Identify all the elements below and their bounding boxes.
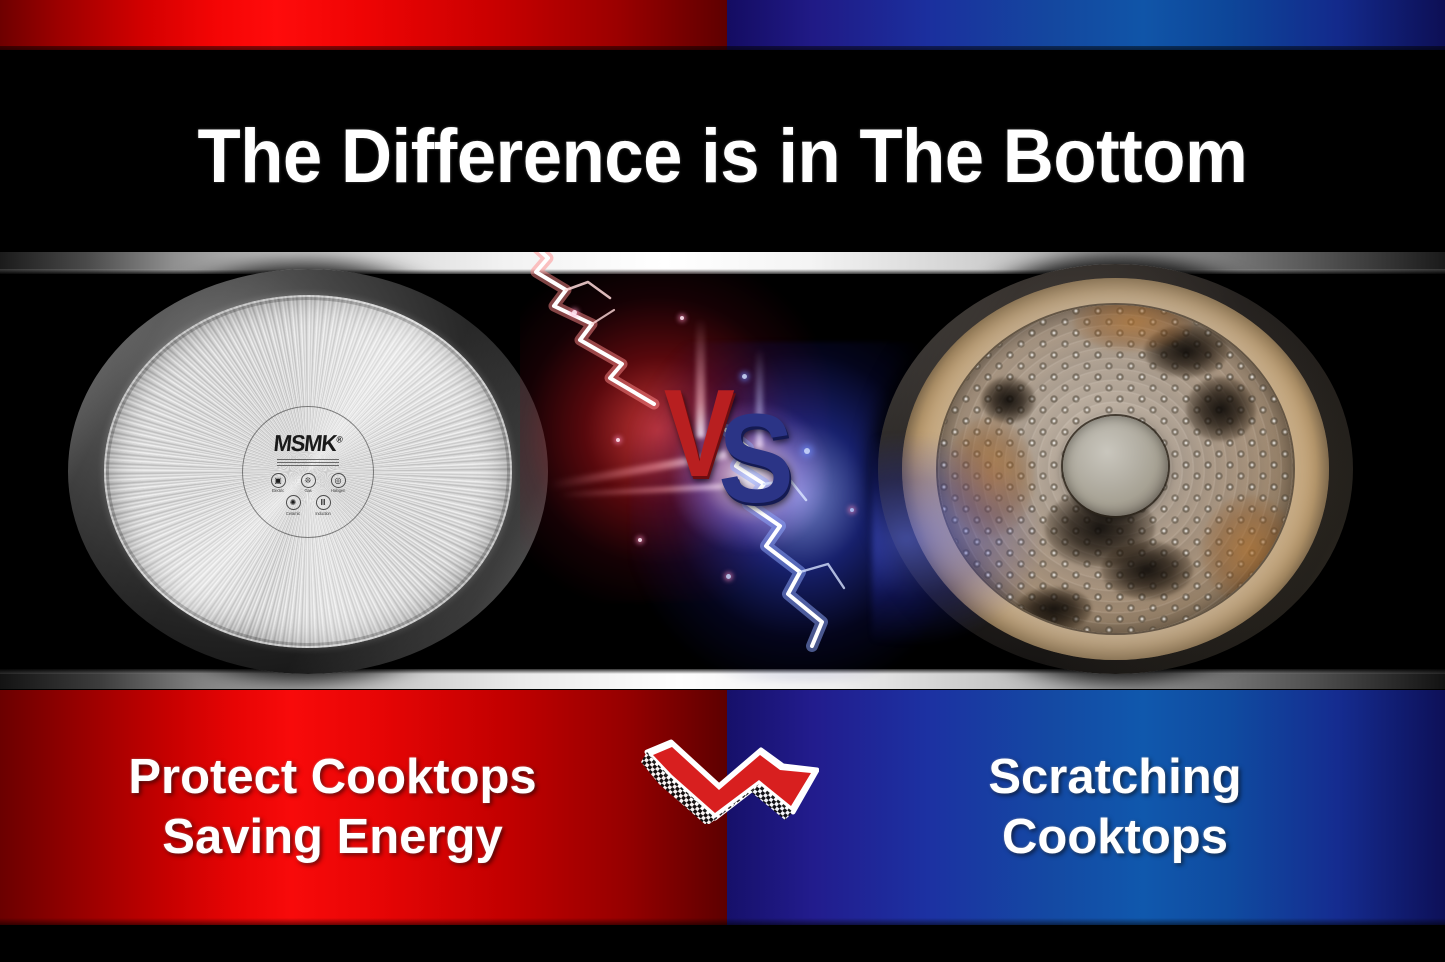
right-pan-center-disc: [1063, 416, 1168, 516]
electric-cooktop-label: Electric: [265, 488, 291, 493]
top-band-blue: [727, 0, 1445, 50]
cooktop-compatibility-icons: ▣ Electric ❊ Gas ◎ Halogen ✺: [260, 473, 356, 516]
electric-cooktop-glyph: ▣: [271, 473, 286, 488]
spark-particle: [680, 316, 684, 320]
top-band-red: [0, 0, 727, 50]
left-claim-line-2: Saving Energy: [162, 808, 502, 868]
gas-cooktop-label: Gas: [295, 488, 321, 493]
msmk-medallion: MSMK® ▣ Electric ❊ Gas: [242, 406, 374, 538]
ceramic-cooktop-icon: ✺ Ceramic: [280, 495, 306, 516]
spark-particle: [616, 438, 620, 442]
versus-s-letter: S: [718, 396, 794, 522]
right-claim-text: Scratching Cooktops: [727, 690, 1445, 925]
halogen-cooktop-label: Halogen: [325, 488, 351, 493]
induction-cooktop-icon: Ⅲ Induction: [310, 495, 336, 516]
ceramic-cooktop-glyph: ✺: [286, 495, 301, 510]
comparison-photo-strip: MSMK® ▣ Electric ❊ Gas: [0, 252, 1445, 689]
spark-particle: [850, 508, 854, 512]
ceramic-cooktop-label: Ceramic: [280, 511, 306, 516]
left-claim-text: Protect Cooktops Saving Energy: [0, 690, 727, 925]
halogen-cooktop-icon: ◎ Halogen: [325, 473, 351, 494]
claims-panel-left: Protect Cooktops Saving Energy: [0, 690, 727, 925]
right-pan-image: [878, 264, 1353, 674]
spark-particle: [638, 538, 642, 542]
induction-cooktop-glyph: Ⅲ: [316, 495, 331, 510]
induction-cooktop-label: Induction: [310, 511, 336, 516]
right-claim-line-2: Cooktops: [1002, 808, 1228, 868]
bottom-black-margin: [0, 925, 1445, 962]
versus-letters: V S: [642, 370, 832, 520]
msmk-brand-text: MSMK: [272, 430, 337, 456]
msmk-brand-logo: MSMK®: [272, 430, 343, 457]
product-comparison-poster: The Difference is in The Bottom MSMK®: [0, 0, 1445, 962]
gas-cooktop-glyph: ❊: [301, 473, 316, 488]
electric-cooktop-icon: ▣ Electric: [265, 473, 291, 494]
rust-stain: [1201, 495, 1293, 605]
registered-trademark-icon: ®: [336, 434, 343, 444]
halogen-cooktop-glyph: ◎: [331, 473, 346, 488]
headline-container: The Difference is in The Bottom: [0, 108, 1445, 204]
right-claim-line-1: Scratching: [988, 748, 1241, 808]
left-pan-image: MSMK® ▣ Electric ❊ Gas: [68, 269, 548, 674]
gas-cooktop-icon: ❊ Gas: [295, 473, 321, 494]
zigzag-down-arrow-icon: [641, 736, 819, 824]
spark-particle: [572, 310, 577, 315]
top-band-fade: [0, 46, 1445, 60]
top-color-band: [0, 0, 1445, 50]
page-title: The Difference is in The Bottom: [198, 113, 1248, 200]
msmk-underline-rules: [277, 459, 339, 468]
spark-particle: [726, 574, 731, 579]
burn-mark: [1101, 541, 1193, 599]
photo-inner: MSMK® ▣ Electric ❊ Gas: [0, 274, 1445, 669]
zigzag-arrow-container: [641, 736, 819, 824]
blue-edge-glow: [872, 434, 1042, 644]
claims-panel-right: Scratching Cooktops: [727, 690, 1445, 925]
left-claim-line-1: Protect Cooktops: [128, 748, 536, 808]
